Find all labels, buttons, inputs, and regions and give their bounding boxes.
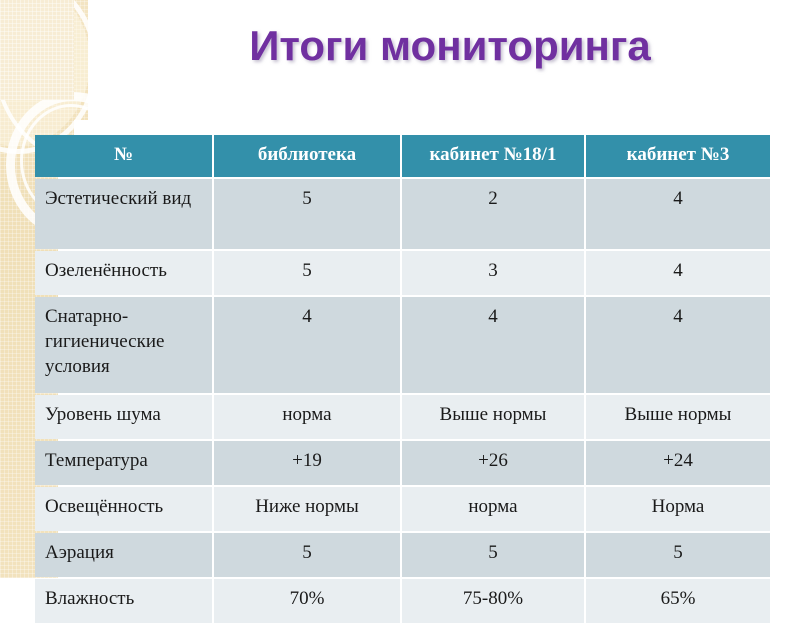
- page-title: Итоги мониторинга: [120, 18, 780, 74]
- cell-library: 5: [214, 179, 400, 249]
- cell-room-3: 4: [586, 179, 770, 249]
- table-row: Эстетический вид 5 2 4: [35, 179, 770, 249]
- cell-room-18-1: норма: [402, 487, 584, 531]
- table-body: Эстетический вид 5 2 4 Озеленённость 5 3…: [35, 179, 770, 623]
- row-label: Температура: [35, 441, 212, 485]
- row-label: Влажность: [35, 579, 212, 623]
- cell-room-18-1: 4: [402, 297, 584, 393]
- column-header-library[interactable]: библиотека: [214, 135, 400, 177]
- cell-library: 4: [214, 297, 400, 393]
- cell-room-18-1: Выше нормы: [402, 395, 584, 439]
- cell-room-3: 5: [586, 533, 770, 577]
- cell-library: +19: [214, 441, 400, 485]
- cell-room-18-1: 5: [402, 533, 584, 577]
- cell-room-18-1: 2: [402, 179, 584, 249]
- row-label: Озеленённость: [35, 251, 212, 295]
- row-label: Аэрация: [35, 533, 212, 577]
- table-row: Снатарно-гигиенические условия 4 4 4: [35, 297, 770, 393]
- cell-library: Ниже нормы: [214, 487, 400, 531]
- cell-room-3: Норма: [586, 487, 770, 531]
- row-label: Снатарно-гигиенические условия: [35, 297, 212, 393]
- row-label: Уровень шума: [35, 395, 212, 439]
- cell-room-18-1: +26: [402, 441, 584, 485]
- table-header-row: № библиотека кабинет №18/1 кабинет №3: [35, 135, 770, 177]
- table-row: Влажность 70% 75-80% 65%: [35, 579, 770, 623]
- monitoring-results-table: № библиотека кабинет №18/1 кабинет №3 Эс…: [33, 133, 772, 625]
- monitoring-table-container: № библиотека кабинет №18/1 кабинет №3 Эс…: [33, 133, 768, 625]
- table-row: Аэрация 5 5 5: [35, 533, 770, 577]
- cell-library: 5: [214, 533, 400, 577]
- table-header: № библиотека кабинет №18/1 кабинет №3: [35, 135, 770, 177]
- decorative-band-top-panel: [0, 0, 74, 100]
- cell-library: 5: [214, 251, 400, 295]
- table-row: Освещённость Ниже нормы норма Норма: [35, 487, 770, 531]
- table-row: Уровень шума норма Выше нормы Выше нормы: [35, 395, 770, 439]
- cell-room-18-1: 75-80%: [402, 579, 584, 623]
- table-row: Озеленённость 5 3 4: [35, 251, 770, 295]
- row-label: Эстетический вид: [35, 179, 212, 249]
- cell-room-3: 65%: [586, 579, 770, 623]
- cell-room-3: Выше нормы: [586, 395, 770, 439]
- row-label: Освещённость: [35, 487, 212, 531]
- column-header-room-3[interactable]: кабинет №3: [586, 135, 770, 177]
- cell-room-3: +24: [586, 441, 770, 485]
- table-row: Температура +19 +26 +24: [35, 441, 770, 485]
- cell-room-3: 4: [586, 251, 770, 295]
- cell-library: норма: [214, 395, 400, 439]
- column-header-room-18-1[interactable]: кабинет №18/1: [402, 135, 584, 177]
- cell-room-3: 4: [586, 297, 770, 393]
- column-header-number[interactable]: №: [35, 135, 212, 177]
- cell-room-18-1: 3: [402, 251, 584, 295]
- cell-library: 70%: [214, 579, 400, 623]
